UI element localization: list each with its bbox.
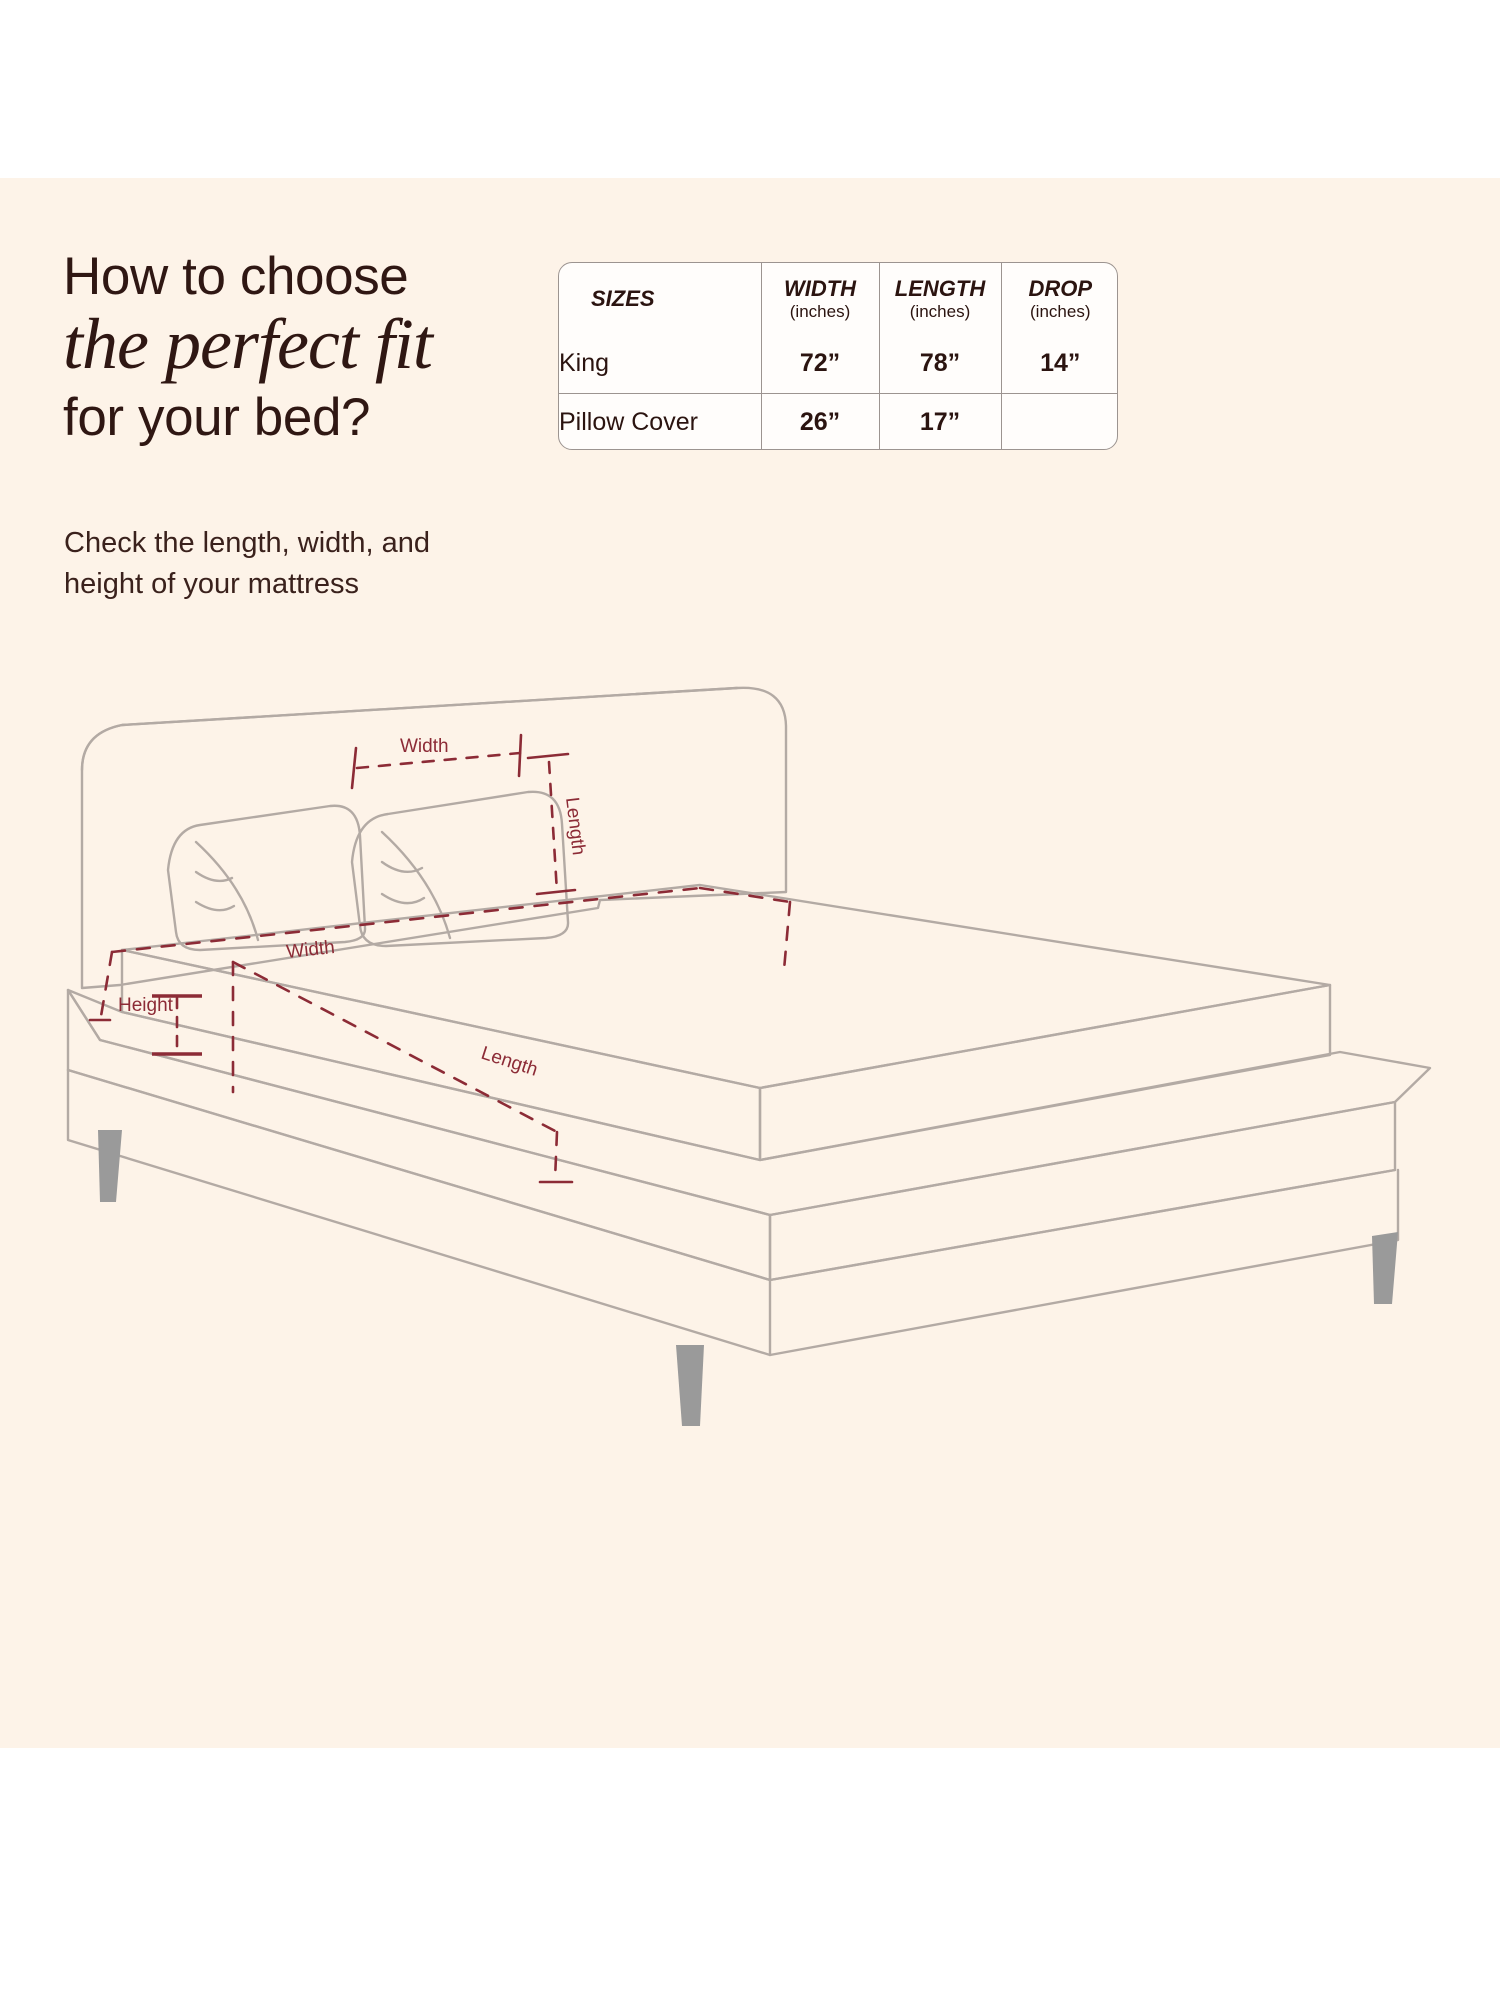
row-pillow-cover-width: 26” bbox=[761, 393, 879, 450]
pillow-left-fold-b bbox=[196, 902, 234, 910]
pillow-width-tick-left bbox=[352, 748, 356, 788]
column-header-length: LENGTH (inches) bbox=[879, 263, 1001, 335]
mattress-length-dashed-tail bbox=[555, 1132, 557, 1180]
mattress-top-surface bbox=[122, 885, 1330, 1088]
bed-base-front-right bbox=[770, 1102, 1395, 1280]
column-header-width: WIDTH (inches) bbox=[761, 263, 879, 335]
mattress-right-side bbox=[760, 985, 1330, 1160]
bed-base-top bbox=[68, 990, 1430, 1215]
mattress-length-dashed-corner bbox=[784, 902, 790, 970]
column-header-sizes-title: SIZES bbox=[591, 286, 655, 311]
bed-base-outer-right bbox=[770, 1170, 1395, 1280]
column-header-width-unit: (inches) bbox=[762, 303, 879, 322]
label-mattress-height: Height bbox=[118, 995, 174, 1016]
label-mattress-width: Width bbox=[285, 937, 336, 963]
row-pillow-cover-size: Pillow Cover bbox=[559, 393, 761, 450]
headboard-inner-edge bbox=[82, 688, 737, 770]
pillow-length-dashed bbox=[549, 762, 557, 892]
table-row: King 72” 78” 14” bbox=[559, 335, 1118, 393]
headline-line-2-italic: the perfect fit bbox=[63, 307, 583, 383]
bed-diagram: Width Length Width Length Height bbox=[0, 640, 1500, 1750]
mattress-length-dashed-lower bbox=[233, 962, 557, 1132]
bed-leg-front-left bbox=[98, 1130, 122, 1202]
pillow-right-fold-b bbox=[382, 894, 424, 903]
column-header-width-title: WIDTH bbox=[784, 276, 856, 301]
bed-frame-rail bbox=[68, 1070, 1398, 1355]
column-header-sizes: SIZES bbox=[559, 263, 761, 335]
row-king-width: 72” bbox=[761, 335, 879, 393]
subtext-line-2: height of your mattress bbox=[64, 564, 544, 605]
table-header-row: SIZES WIDTH (inches) LENGTH (inches) DRO… bbox=[559, 263, 1118, 335]
pillow-right-fold-a bbox=[382, 862, 422, 872]
headline-line-1: How to choose bbox=[63, 250, 583, 303]
label-mattress-length: Length bbox=[478, 1043, 540, 1081]
bed-leg-right bbox=[1372, 1232, 1398, 1304]
pillow-left-crease bbox=[196, 842, 258, 940]
row-king-length: 78” bbox=[879, 335, 1001, 393]
row-pillow-cover-length: 17” bbox=[879, 393, 1001, 450]
table-row: Pillow Cover 26” 17” bbox=[559, 393, 1118, 450]
row-king-size: King bbox=[559, 335, 761, 393]
column-header-drop-unit: (inches) bbox=[1002, 303, 1119, 322]
label-pillow-width: Width bbox=[400, 736, 449, 757]
row-pillow-cover-drop bbox=[1001, 393, 1118, 450]
column-header-drop: DROP (inches) bbox=[1001, 263, 1118, 335]
bed-base-front-left bbox=[68, 990, 770, 1280]
pillow-length-tick-top bbox=[528, 754, 568, 758]
column-header-drop-title: DROP bbox=[1028, 276, 1092, 301]
subtext-block: Check the length, width, and height of y… bbox=[64, 523, 544, 604]
size-chart-table: SIZES WIDTH (inches) LENGTH (inches) DRO… bbox=[558, 262, 1118, 450]
page-root: How to choose the perfect fit for your b… bbox=[0, 0, 1500, 2000]
row-king-drop: 14” bbox=[1001, 335, 1118, 393]
subtext-line-1: Check the length, width, and bbox=[64, 523, 544, 564]
column-header-length-unit: (inches) bbox=[880, 303, 1001, 322]
column-header-length-title: LENGTH bbox=[895, 276, 985, 301]
headline-line-3: for your bed? bbox=[63, 391, 583, 444]
pillow-length-tick-bottom bbox=[537, 890, 575, 894]
label-pillow-length: Length bbox=[561, 796, 589, 856]
bed-leg-front-center bbox=[676, 1345, 704, 1426]
headline-block: How to choose the perfect fit for your b… bbox=[63, 250, 583, 444]
pillow-width-tick-right bbox=[519, 735, 521, 776]
mattress-width-dashed bbox=[112, 888, 700, 952]
